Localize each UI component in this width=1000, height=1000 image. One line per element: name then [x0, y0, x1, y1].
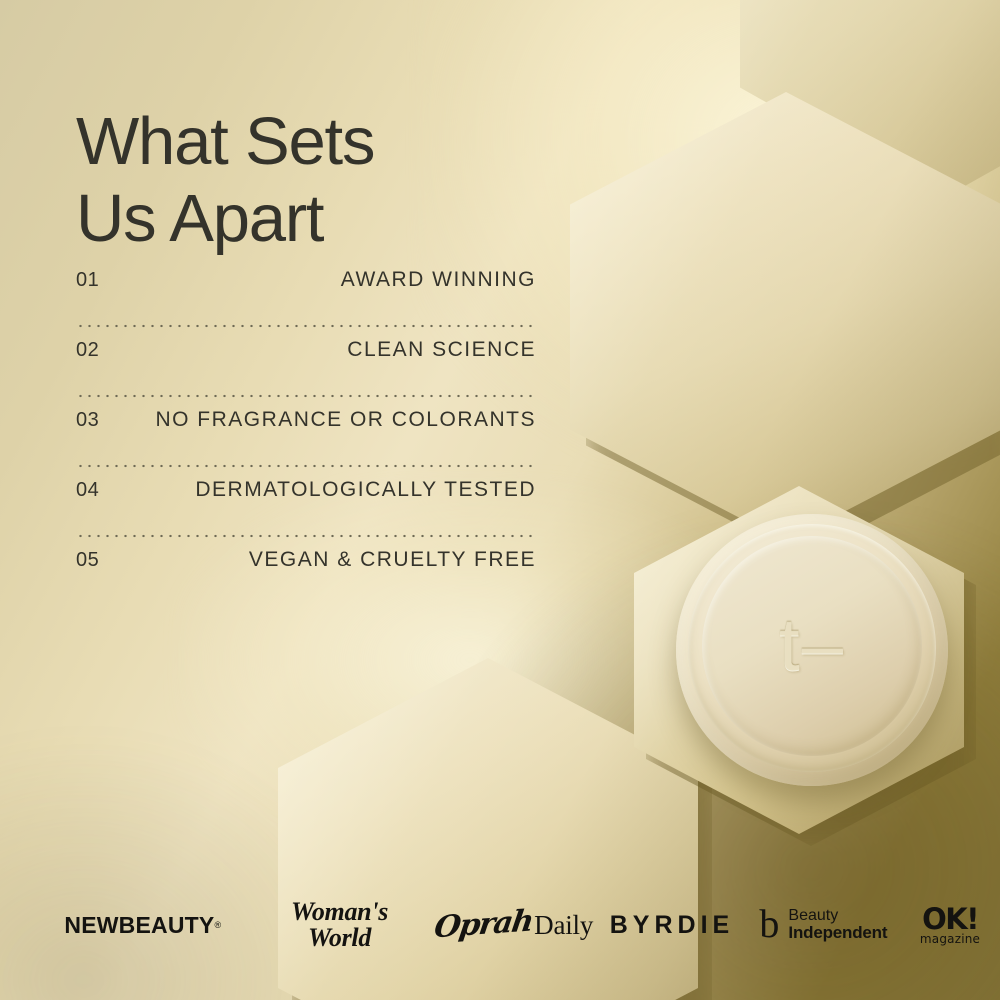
list-item-label: CLEAN SCIENCE — [347, 338, 536, 362]
list-item-label: NO FRAGRANCE OR COLORANTS — [155, 408, 536, 432]
logo-beauty-independent: b Beauty Independent — [751, 907, 896, 943]
differentiators-list: 01 AWARD WINNING 02 CLEAN SCIENCE 03 NO … — [76, 268, 536, 594]
press-logo-bar: NEWBEAUTY® Woman's World Oprah Daily BYR… — [0, 895, 1000, 955]
logo-newbeauty: NEWBEAUTY® — [52, 914, 234, 937]
product-jar: t– — [676, 514, 948, 786]
logo-byrdie: BYRDIE — [599, 913, 744, 938]
list-item: 04 DERMATOLOGICALLY TESTED — [76, 478, 536, 524]
logo-ok-magazine: OK! magazine — [900, 905, 1000, 945]
beauty-independent-b-mark-icon: b — [759, 907, 779, 941]
page-title: What Sets Us Apart — [76, 103, 596, 257]
logo-oprah-daily-text: Daily — [534, 912, 593, 939]
dotted-divider — [76, 314, 536, 338]
list-item-number: 05 — [76, 549, 99, 572]
list-item: 02 CLEAN SCIENCE — [76, 338, 536, 384]
list-item-label: DERMATOLOGICALLY TESTED — [195, 478, 536, 502]
list-item-number: 01 — [76, 269, 99, 292]
logo-newbeauty-text: NEWBEAUTY — [64, 914, 214, 937]
registered-trademark-icon: ® — [214, 921, 221, 930]
jar-lid: t– — [702, 536, 922, 756]
logo-ok-main-text: OK! — [900, 905, 1000, 934]
list-item-label: AWARD WINNING — [341, 268, 536, 292]
list-item-label: VEGAN & CRUELTY FREE — [249, 548, 536, 572]
logo-beauty-independent-line2: Independent — [788, 924, 887, 942]
list-item: 01 AWARD WINNING — [76, 268, 536, 314]
list-item-number: 02 — [76, 339, 99, 362]
dotted-divider — [76, 384, 536, 408]
logo-ok-sub-text: magazine — [900, 933, 1000, 945]
list-item-number: 04 — [76, 479, 99, 502]
logo-beauty-independent-words: Beauty Independent — [788, 907, 887, 943]
logo-byrdie-text: BYRDIE — [610, 913, 734, 938]
promo-graphic: t– What Sets Us Apart 01 AWARD WINNING 0… — [0, 0, 1000, 1000]
list-item: 05 VEGAN & CRUELTY FREE — [76, 548, 536, 594]
logo-womans-world: Woman's World — [258, 899, 422, 951]
dotted-divider — [76, 524, 536, 548]
list-item: 03 NO FRAGRANCE OR COLORANTS — [76, 408, 536, 454]
jar-monogram-logo: t– — [702, 602, 922, 687]
logo-oprah-script-text: Oprah — [433, 907, 535, 944]
dotted-divider — [76, 454, 536, 478]
list-item-number: 03 — [76, 409, 99, 432]
logo-womans-world-text: Woman's World — [258, 899, 422, 951]
logo-beauty-independent-line1: Beauty — [788, 907, 887, 924]
logo-oprah-daily: Oprah Daily — [439, 910, 589, 940]
